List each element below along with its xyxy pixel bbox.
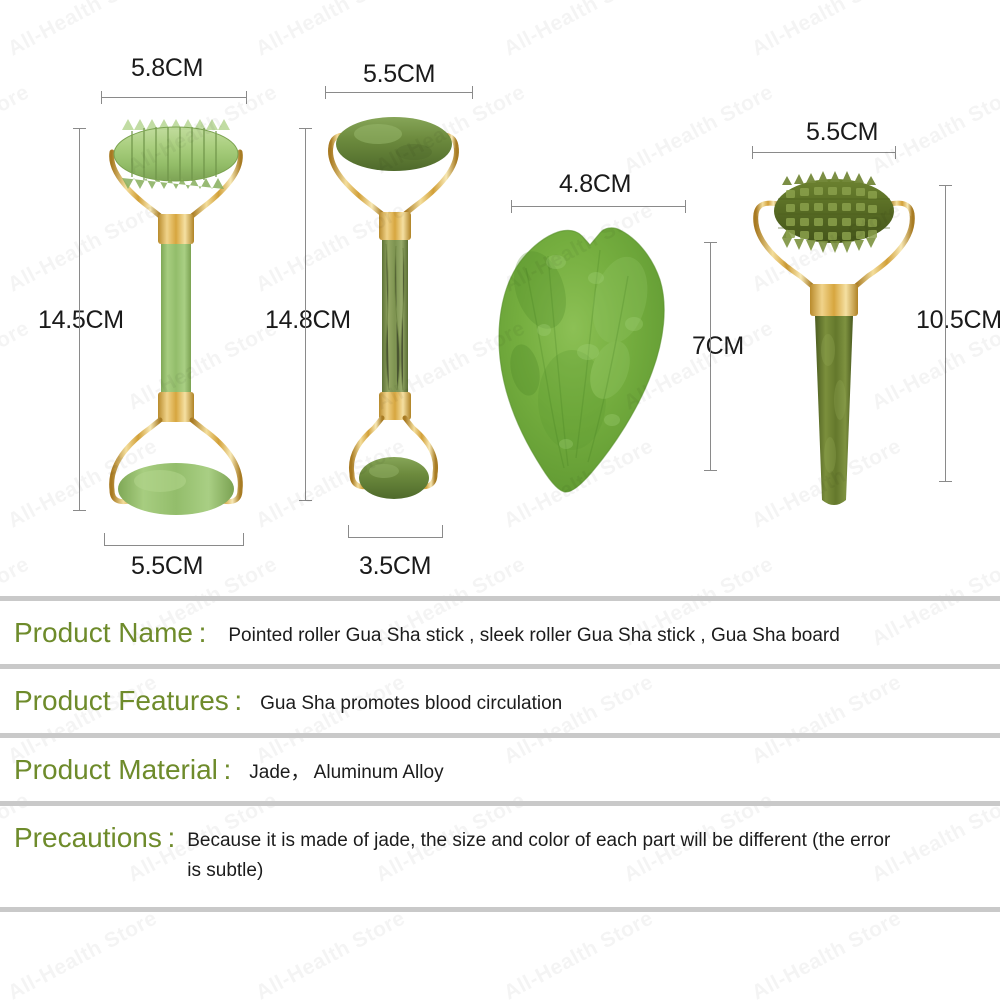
- info-value-product-name: Pointed roller Gua Sha stick , sleek rol…: [206, 615, 839, 650]
- product-showcase: 5.8CM 14.5CM 5.5CM 5.5CM 14.8CM 3.5CM 4.…: [0, 0, 1000, 600]
- dim-cap-p4-width-left: [752, 146, 753, 159]
- info-label-precautions: Precautions :: [0, 820, 175, 855]
- dim-cap-p1-bottom-right: [243, 533, 244, 546]
- dim-label-p4-height: 10.5CM: [916, 306, 1000, 335]
- dim-cap-p3-width-right: [685, 200, 686, 213]
- dim-cap-p3-width-left: [511, 200, 512, 213]
- info-label-product-material: Product Material :: [0, 752, 231, 787]
- dim-cap-p1-width-right: [246, 91, 247, 104]
- info-row-product-name: Product Name : Pointed roller Gua Sha st…: [0, 601, 1000, 664]
- product-4-spiked-roller: [756, 171, 913, 505]
- dim-label-p1-bottom: 5.5CM: [131, 552, 203, 581]
- dim-cap-p3-height-bottom: [704, 470, 717, 471]
- dim-cap-p4-width-right: [895, 146, 896, 159]
- info-row-precautions: Precautions : Because it is made of jade…: [0, 806, 1000, 907]
- info-value-precautions: Because it is made of jade, the size and…: [175, 820, 895, 885]
- dim-cap-p3-height-top: [704, 242, 717, 243]
- dim-cap-p2-height-bottom: [299, 500, 312, 501]
- dim-label-p3-width: 4.8CM: [559, 170, 631, 199]
- dim-line-p3-height: [710, 242, 711, 470]
- dim-cap-p4-height-bottom: [939, 481, 952, 482]
- dim-cap-p1-height-top: [73, 128, 86, 129]
- dim-cap-p2-width-left: [325, 86, 326, 99]
- dim-cap-p2-height-top: [299, 128, 312, 129]
- dim-cap-p4-height-top: [939, 185, 952, 186]
- watermark-text: All-Health Store: [4, 907, 161, 1000]
- watermark-text: All-Health Store: [500, 907, 657, 1000]
- dim-line-p1-width: [101, 97, 246, 98]
- divider-bottom: [0, 907, 1000, 912]
- dim-label-p2-width: 5.5CM: [363, 60, 435, 89]
- dim-line-p2-width: [325, 92, 472, 93]
- dim-line-p4-height: [945, 185, 946, 481]
- watermark-text: All-Health Store: [252, 907, 409, 1000]
- dim-line-p2-height: [305, 128, 306, 500]
- dim-label-p2-bottom: 3.5CM: [359, 552, 431, 581]
- product-3-gua-sha-board: [499, 228, 664, 492]
- info-row-product-material: Product Material : Jade， Aluminum Alloy: [0, 738, 1000, 801]
- info-value-product-features: Gua Sha promotes blood circulation: [242, 683, 562, 718]
- dim-line-p1-height: [79, 128, 80, 510]
- dim-cap-p1-width-left: [101, 91, 102, 104]
- watermark-text: All-Health Store: [748, 907, 905, 1000]
- info-label-product-name: Product Name :: [0, 615, 206, 650]
- dim-cap-p2-bottom-right: [442, 525, 443, 538]
- dim-label-p4-width: 5.5CM: [806, 118, 878, 147]
- dim-label-p1-width: 5.8CM: [131, 54, 203, 83]
- dim-line-p3-width: [511, 206, 685, 207]
- dim-label-p3-height: 7CM: [692, 332, 744, 361]
- product-info-table: Product Name : Pointed roller Gua Sha st…: [0, 596, 1000, 912]
- dim-line-p4-width: [752, 152, 895, 153]
- product-1-pointed-roller: [112, 119, 241, 515]
- dim-cap-p1-height-bottom: [73, 510, 86, 511]
- info-value-product-material: Jade， Aluminum Alloy: [231, 752, 443, 787]
- dim-cap-p1-bottom-left: [104, 533, 105, 546]
- dim-line-p1-bottom: [104, 545, 243, 546]
- info-row-product-features: Product Features : Gua Sha promotes bloo…: [0, 669, 1000, 732]
- info-label-product-features: Product Features :: [0, 683, 242, 718]
- dim-cap-p2-bottom-left: [348, 525, 349, 538]
- products-illustration: [0, 0, 1000, 600]
- dim-label-p2-height: 14.8CM: [265, 306, 351, 335]
- watermark-text: All-Health Store: [996, 907, 1000, 1000]
- dim-cap-p2-width-right: [472, 86, 473, 99]
- dim-line-p2-bottom: [348, 537, 442, 538]
- dim-label-p1-height: 14.5CM: [38, 306, 124, 335]
